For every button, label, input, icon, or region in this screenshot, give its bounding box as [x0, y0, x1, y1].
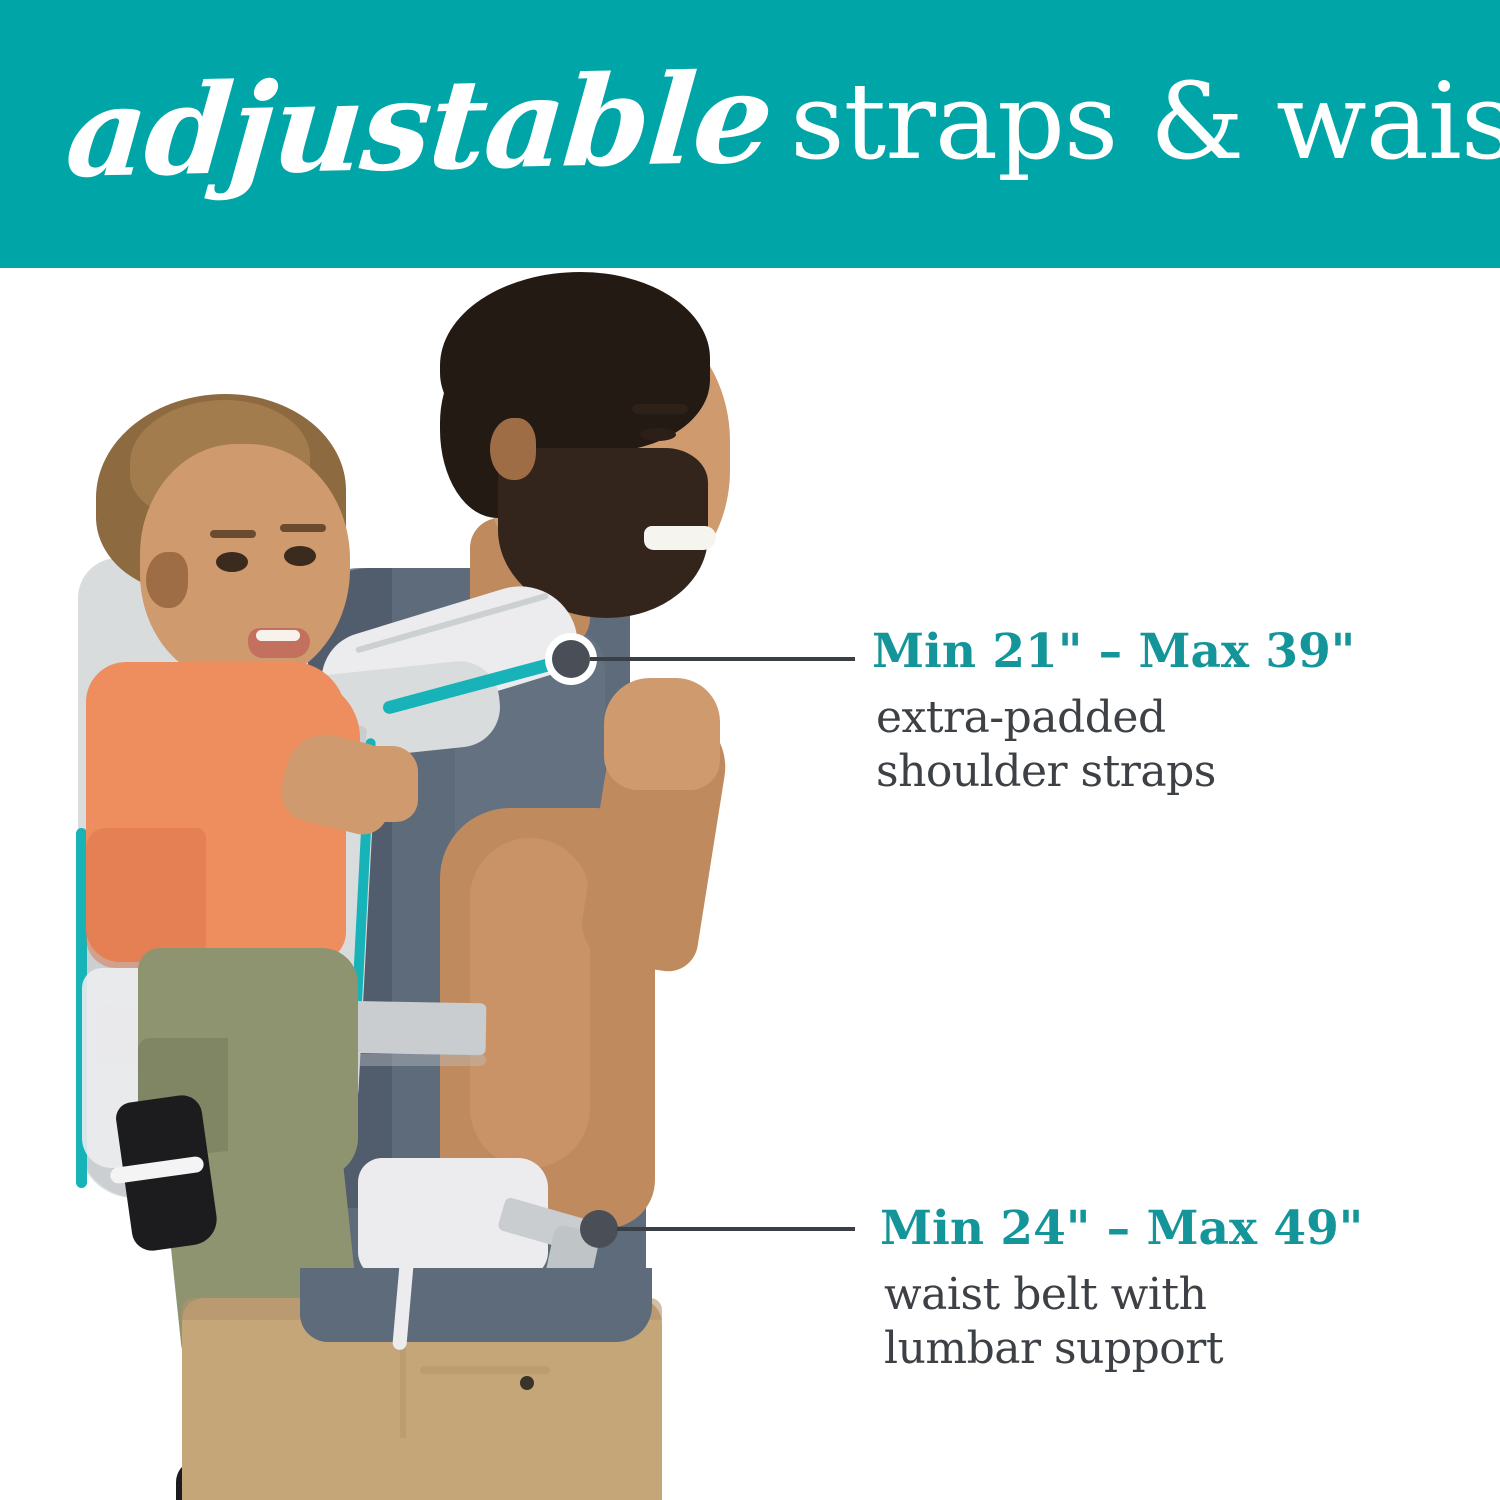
baby-eyebrow-left — [210, 530, 256, 538]
baby-mouth-teeth — [256, 630, 300, 641]
header-rest-text: straps & waist belt — [790, 69, 1500, 175]
leader-line-shoulder-straps — [590, 657, 855, 661]
callout-waist-belt: Min 24" – Max 49" waist belt with lumbar… — [880, 1205, 1500, 1375]
adult-pants-button — [520, 1376, 534, 1390]
adult-shirt-drape — [300, 1268, 652, 1342]
callout-shoulder-straps-body: extra-padded shoulder straps — [876, 691, 1492, 798]
baby-eye-left — [216, 552, 248, 572]
baby-eyebrow-right — [280, 524, 326, 532]
adult-ear — [490, 418, 536, 480]
baby-eye-right — [284, 546, 316, 566]
callout-waist-belt-heading: Min 24" – Max 49" — [880, 1205, 1500, 1252]
adult-pants-pocket — [420, 1366, 550, 1374]
baby-shirt-shadow — [86, 828, 206, 968]
baby-hand — [346, 746, 418, 822]
leader-dot-shoulder-straps — [552, 640, 590, 678]
infographic-page: adjustablestraps & waist belt — [0, 0, 1500, 1500]
baby-ear — [146, 552, 188, 608]
header-script-word: adjustable — [62, 57, 776, 196]
leader-line-waist-belt — [617, 1227, 855, 1231]
adult-smile-teeth — [644, 526, 716, 550]
callout-shoulder-straps: Min 21" – Max 39" extra-padded shoulder … — [872, 628, 1492, 798]
callout-shoulder-straps-heading: Min 21" – Max 39" — [872, 628, 1492, 675]
callout-waist-belt-body: waist belt with lumbar support — [884, 1268, 1500, 1375]
adult-eye — [640, 428, 676, 441]
adult-arm-highlight — [470, 838, 590, 1168]
adult-hand — [604, 678, 720, 790]
carrier-waist-belt-right — [336, 1001, 487, 1056]
product-photo — [0, 268, 860, 1500]
page-title: adjustablestraps & waist belt — [62, 58, 1462, 228]
header-banner: adjustablestraps & waist belt — [0, 0, 1500, 268]
adult-eyebrow — [632, 404, 688, 414]
leader-dot-waist-belt — [580, 1210, 618, 1248]
